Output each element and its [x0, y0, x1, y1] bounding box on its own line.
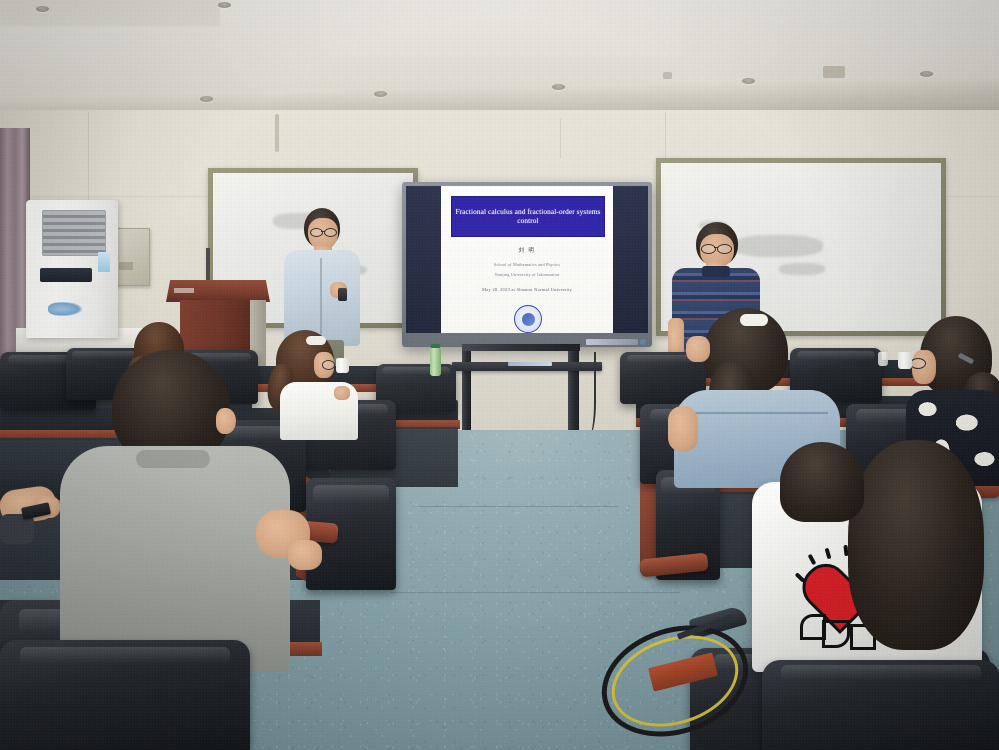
podium-microphone [206, 248, 210, 284]
paper-cup[interactable] [336, 358, 349, 373]
ac-brand-logo [48, 302, 82, 316]
wall-seam [560, 118, 561, 158]
downlight-icon [200, 96, 213, 102]
hair [848, 440, 984, 650]
presentation-slide: Fractional calculus and fractional-order… [441, 186, 613, 333]
downlight-icon [218, 2, 231, 8]
radiating-dash [808, 554, 817, 566]
hand [288, 540, 322, 570]
person-attendee-gray-polo [60, 350, 300, 680]
downlight-icon [374, 91, 387, 97]
glasses-bridge [714, 247, 718, 248]
downlight-icon [36, 6, 49, 12]
glasses-icon [322, 360, 335, 370]
slide-affiliation-line-1: School of Mathematics and Physics [441, 262, 613, 267]
glasses-icon [701, 244, 716, 254]
glasses-icon [310, 228, 323, 237]
lectern-slot [174, 288, 194, 293]
slide-title-line-2: control [517, 216, 538, 225]
cart-shelf-device[interactable] [508, 362, 552, 366]
hair-tie [306, 336, 326, 345]
collar [136, 450, 210, 468]
ac-sticker [98, 252, 110, 272]
slide-affiliation-line-2: Nanjing University of Information [441, 272, 613, 277]
hair-tie [740, 314, 768, 326]
floor-tile-seam [418, 506, 618, 507]
polo-collar [702, 266, 730, 277]
display-brand-label [586, 339, 638, 345]
downlight-icon [920, 71, 933, 77]
slide-venue: May 28, 2023 at Shaanxi Normal Universit… [441, 287, 613, 292]
forearm [668, 406, 698, 452]
chair[interactable] [0, 640, 250, 750]
ceiling-recess [0, 0, 220, 26]
hand [334, 386, 350, 400]
ac-display-panel[interactable] [40, 268, 92, 282]
downlight-icon [552, 84, 565, 90]
wall-scuff [823, 66, 845, 78]
university-seal-logo [514, 305, 542, 333]
wall-scuff [663, 72, 672, 79]
presenter-remote[interactable] [338, 288, 347, 301]
panel-label [119, 262, 133, 270]
cart-crossbar [462, 344, 580, 351]
floor-standing-air-conditioner[interactable] [26, 200, 118, 338]
glasses-icon [910, 358, 926, 369]
radiating-dash [825, 548, 832, 560]
lecture-hall-photo: Fractional calculus and fractional-order… [0, 0, 999, 750]
air-vent-icon [42, 210, 106, 256]
paper-cup[interactable] [878, 352, 888, 366]
wall-scuff [275, 114, 279, 152]
chair[interactable] [762, 660, 999, 750]
downlight-icon [742, 78, 755, 84]
shirt-yoke-seam [688, 412, 828, 414]
cart-leg-left [462, 345, 471, 435]
slide-title-bar: Fractional calculus and fractional-order… [451, 196, 604, 236]
display-side-panel-left [406, 186, 441, 333]
interactive-smart-display[interactable]: Fractional calculus and fractional-order… [402, 182, 652, 347]
polo-shirt [60, 446, 290, 672]
display-bezel: Fractional calculus and fractional-order… [406, 186, 648, 333]
glasses-icon [717, 244, 732, 254]
display-side-panel-right [613, 186, 648, 333]
stick-figure [822, 620, 850, 648]
slide-author: 刘 明 [441, 246, 613, 254]
ear [216, 408, 236, 434]
green-water-bottle[interactable] [430, 348, 441, 376]
glasses-icon [324, 228, 337, 237]
hand [686, 336, 710, 362]
floor-tile-seam [390, 592, 680, 593]
glasses-bridge [321, 231, 325, 232]
hair-side-strand [780, 442, 864, 522]
display-power-cable [578, 352, 596, 436]
seal-inner-emblem [522, 313, 535, 326]
paper-cup[interactable] [898, 352, 912, 369]
ir-sensor-icon [640, 339, 646, 345]
